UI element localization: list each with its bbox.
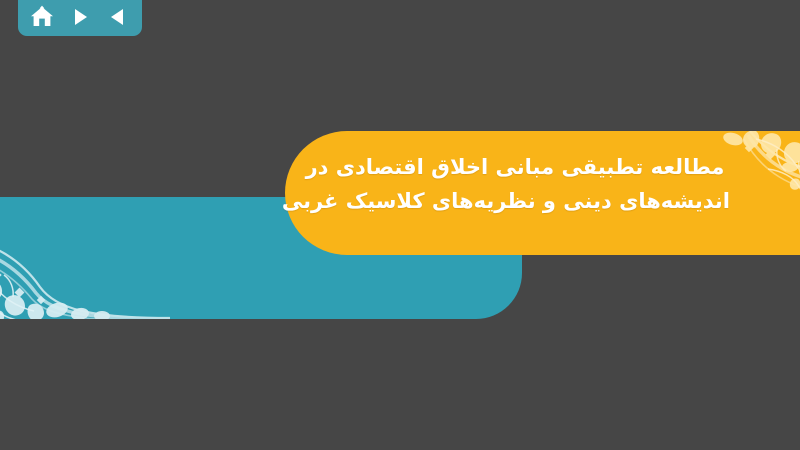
home-button[interactable]: [26, 3, 58, 31]
home-icon: [29, 5, 55, 29]
slide-navigation-toolbar[interactable]: [18, 0, 142, 36]
slide-title-line-1: مطالعه تطبیقی مبانی اخلاق اقتصادی در: [300, 150, 730, 184]
next-arrow-icon: [69, 7, 91, 27]
next-slide-button[interactable]: [64, 3, 96, 31]
slide-title-line-2: اندیشه‌های دینی و نظریه‌های کلاسیک غربی: [300, 184, 730, 218]
previous-slide-button[interactable]: [102, 3, 134, 31]
arabesque-corner-ornament: [0, 197, 170, 319]
previous-arrow-icon: [107, 7, 129, 27]
slide-title: مطالعه تطبیقی مبانی اخلاق اقتصادی در اند…: [300, 150, 730, 218]
slide-stage: مطالعه تطبیقی مبانی اخلاق اقتصادی در اند…: [0, 0, 800, 450]
